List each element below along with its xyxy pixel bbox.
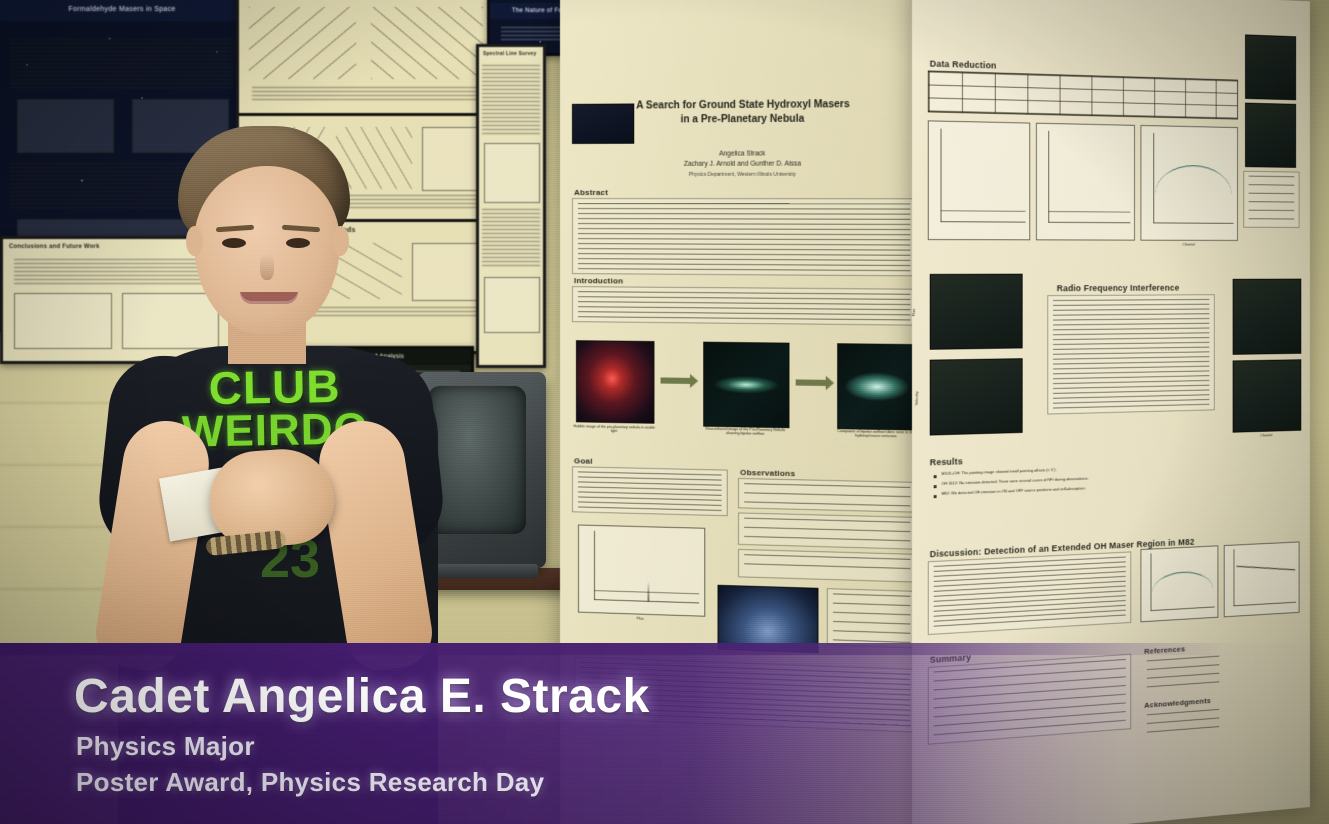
abstract-text	[578, 203, 910, 271]
plot-baseline	[1049, 211, 1131, 213]
plot-emission-peak	[594, 548, 699, 603]
data-reduction-flow-table	[928, 70, 1238, 119]
subject-ear-left	[186, 226, 203, 256]
section-heading-abstract: Abstract	[574, 188, 608, 197]
abstract-box	[572, 198, 917, 276]
rfi-axis-label-velocity: Velocity	[914, 391, 919, 405]
observations-box	[738, 478, 917, 513]
subject-major-text: Physics Major	[76, 731, 255, 762]
figure-1-nebula-visible	[576, 340, 654, 424]
subject-mouth	[240, 292, 298, 304]
plot-y-axis	[1153, 133, 1154, 224]
poster-diagram	[249, 7, 356, 79]
poster-body-text	[482, 65, 540, 135]
video-frame: Formaldehyde Masers in Space Methods The…	[0, 0, 1329, 824]
section-heading-rfi: Radio Frequency Interference	[1057, 283, 1180, 293]
plot-x-axis	[941, 222, 1025, 223]
introduction-text	[578, 291, 910, 320]
subject-award-text: Poster Award, Physics Research Day	[76, 767, 544, 798]
observations-text-2	[744, 518, 910, 545]
subject-eye-right	[286, 238, 310, 248]
figure-2-caption: Near-infrared image of the Pre-Planetary…	[699, 427, 791, 438]
observations-text-3	[744, 554, 910, 577]
telescope-caption-box	[827, 588, 917, 648]
discussion-plot-1	[1140, 545, 1218, 622]
goal-box	[572, 466, 728, 516]
wall-poster-7: Spectral Line Survey	[476, 44, 546, 368]
poster-author: Angelica Strack	[584, 149, 904, 159]
subject-face	[194, 166, 340, 334]
telescope-caption-text	[833, 593, 910, 643]
section-heading-data-reduction: Data Reduction	[930, 59, 997, 71]
wall-poster-7-title: Spectral Line Survey	[483, 51, 536, 57]
observations-text	[744, 483, 910, 507]
section-heading-goal: Goal	[574, 456, 593, 465]
poster-body-text	[10, 39, 235, 91]
rfi-image-1	[930, 274, 1023, 350]
goal-text	[578, 471, 722, 511]
data-plot-2	[1036, 123, 1135, 241]
poster-figure	[484, 277, 540, 333]
observations-box-2	[738, 512, 917, 549]
discussion-box	[928, 551, 1132, 635]
rfi-axis-label-flux: Flux	[911, 309, 916, 317]
subject-nose	[260, 254, 274, 280]
plot-y-axis	[941, 129, 942, 223]
data-reduction-note	[1243, 171, 1299, 228]
figure-1-caption: Hubble image of the pre-planetary nebula…	[572, 424, 657, 435]
data-reduction-note-text	[1249, 176, 1295, 224]
spectrum-plot	[578, 524, 705, 616]
section-heading-observations: Observations	[740, 468, 795, 478]
introduction-box	[572, 286, 917, 326]
data-plot-1	[928, 120, 1030, 240]
data-plot-3	[1140, 125, 1238, 241]
data-plot-x-label: Channel	[1140, 243, 1236, 247]
rfi-box	[1047, 294, 1214, 414]
rfi-image-3	[1233, 279, 1302, 355]
subject-ear-right	[332, 226, 349, 256]
rfi-image-4	[1233, 359, 1302, 432]
plot-baseline	[941, 210, 1025, 212]
section-heading-introduction: Introduction	[574, 276, 623, 285]
plot-y-axis	[1049, 131, 1050, 223]
section-heading-results: Results	[930, 456, 963, 467]
figure-3-maser-composite	[837, 343, 917, 430]
data-image-2	[1245, 103, 1296, 168]
flow-arrow	[661, 377, 691, 384]
poster-body-text	[482, 209, 540, 269]
wall-poster-1-title: Formaldehyde Masers in Space	[0, 0, 247, 21]
rfi-image-2	[930, 358, 1023, 435]
poster-affiliation: Physics Department, Western Illinois Uni…	[584, 172, 904, 179]
discussion-plot-2	[1224, 541, 1300, 617]
poster-header-image	[572, 104, 634, 144]
plot-x-axis	[1234, 601, 1296, 606]
lower-third-banner: Cadet Angelica E. Strack Physics Major P…	[0, 643, 1329, 824]
poster-divider	[239, 113, 493, 116]
subject-eye-left	[222, 238, 246, 248]
plot-y-axis	[1151, 554, 1152, 611]
subject-name-text: Cadet Angelica E. Strack	[74, 669, 650, 724]
observations-box-3	[738, 549, 917, 583]
plot-trend-line	[1234, 566, 1295, 591]
plot-trend-curve	[1152, 571, 1213, 596]
plot-trend-curve	[1155, 165, 1231, 201]
rfi-image-caption: Channel	[1233, 433, 1300, 439]
poster-figure	[484, 143, 540, 203]
discussion-text	[934, 557, 1126, 630]
plot-x-axis	[1151, 606, 1215, 611]
plot-x-axis	[1049, 222, 1131, 223]
results-bullets: M105+OH: The pointing image showed small…	[934, 462, 1215, 502]
rfi-text	[1053, 299, 1209, 410]
poster-body-text	[252, 87, 481, 103]
figure-2-nebula-infrared	[703, 342, 789, 429]
figure-3-caption: Composite of bipolar outflow lobes seen …	[833, 429, 919, 440]
data-image-1	[1245, 34, 1296, 100]
flow-arrow	[796, 379, 827, 386]
plot-axis-flux: Flux	[637, 617, 644, 621]
plot-x-axis	[1153, 223, 1233, 224]
poster-diagram	[371, 7, 483, 79]
poster-coauthors: Zachary J. Arnold and Gunther D. Aissa	[584, 159, 904, 169]
